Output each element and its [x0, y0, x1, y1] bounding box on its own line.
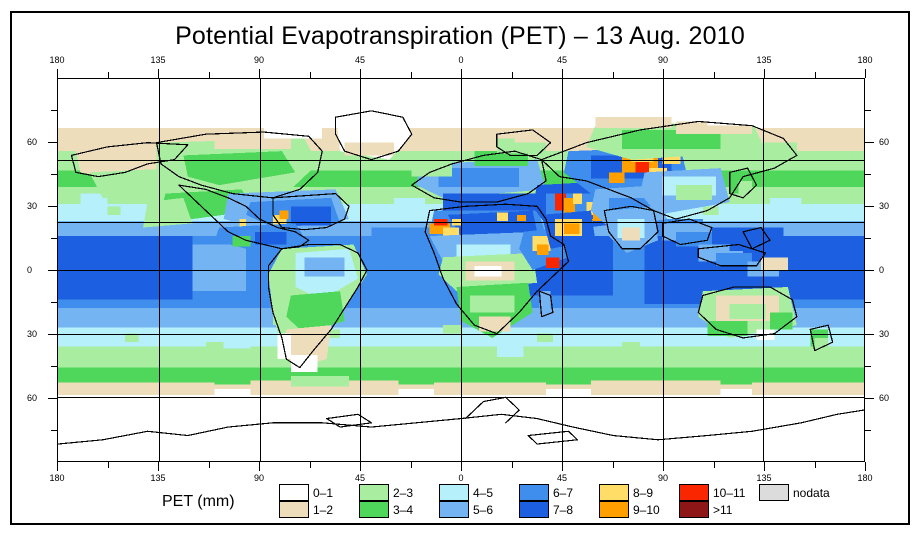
xtick-label-bottom-8: 180: [857, 473, 872, 483]
legend-swatch: [599, 484, 629, 501]
xtick-label-top-7: 135: [756, 55, 771, 65]
ytick-minor-right-15: [865, 238, 871, 239]
legend-swatch: [519, 484, 549, 501]
xtick-minor-top-9: [512, 72, 513, 78]
xtick-bottom-0: [57, 462, 58, 471]
xtick-top-3: [360, 69, 361, 78]
xtick-label-bottom-1: 135: [150, 473, 165, 483]
legend-swatch: [279, 501, 309, 518]
xtick-top-0: [57, 69, 58, 78]
gridline-lon-90e: [663, 79, 664, 461]
legend-label: 4–5: [473, 486, 493, 500]
legend-label: nodata: [793, 486, 830, 500]
ytick-label-right-3: 30: [879, 329, 889, 339]
ytick-label-left-3: 30: [27, 329, 37, 339]
xtick-label-top-5: 45: [557, 55, 567, 65]
xtick-minor-top-15: [815, 72, 816, 78]
ytick-label-left-2: 0: [27, 265, 32, 275]
legend-swatch: [279, 484, 309, 501]
xtick-minor-bottom-5: [310, 462, 311, 468]
xtick-minor-bottom-11: [613, 462, 614, 468]
xtick-label-top-3: 45: [355, 55, 365, 65]
gridline-lon-45w: [360, 79, 361, 461]
xtick-top-8: [865, 69, 866, 78]
ytick-left-0: [48, 142, 57, 143]
xtick-label-bottom-6: 90: [658, 473, 668, 483]
xtick-label-bottom-2: 90: [254, 473, 264, 483]
xtick-bottom-1: [158, 462, 159, 471]
xtick-minor-top-7: [411, 72, 412, 78]
ytick-minor-left--15: [51, 302, 57, 303]
legend-label: 1–2: [313, 503, 333, 517]
xtick-bottom-7: [764, 462, 765, 471]
xtick-minor-bottom-3: [209, 462, 210, 468]
figure-root: Potential Evapotranspiration (PET) – 13 …: [0, 0, 920, 539]
xtick-top-5: [562, 69, 563, 78]
legend-title: PET (mm): [162, 493, 235, 511]
xtick-label-top-4: 0: [458, 55, 463, 65]
xtick-minor-bottom-7: [411, 462, 412, 468]
gridline-lon-0: [461, 79, 462, 461]
ytick-right-0: [865, 142, 874, 143]
legend-label: 0–1: [313, 486, 333, 500]
xtick-top-1: [158, 69, 159, 78]
legend-label: >11: [713, 503, 732, 517]
ytick-left-3: [48, 334, 57, 335]
ytick-right-4: [865, 398, 874, 399]
gridline-lon-45e: [562, 79, 563, 461]
xtick-minor-bottom-13: [714, 462, 715, 468]
xtick-label-bottom-4: 0: [458, 473, 463, 483]
ytick-label-left-4: 60: [27, 393, 37, 403]
legend-label: 9–10: [633, 503, 660, 517]
xtick-bottom-4: [461, 462, 462, 471]
xtick-top-7: [764, 69, 765, 78]
ytick-left-4: [48, 398, 57, 399]
legend-swatch: [519, 501, 549, 518]
xtick-bottom-5: [562, 462, 563, 471]
ytick-label-right-0: 60: [879, 137, 889, 147]
ytick-minor-right--75: [865, 430, 871, 431]
ytick-label-right-1: 30: [879, 201, 889, 211]
xtick-minor-bottom-9: [512, 462, 513, 468]
xtick-bottom-3: [360, 462, 361, 471]
legend-label: 5–6: [473, 503, 493, 517]
ytick-minor-left--75: [51, 430, 57, 431]
map-legend: PET (mm) 0–11–22–33–44–55–66–77–88–99–10…: [57, 483, 867, 523]
legend-swatch: [679, 501, 709, 518]
xtick-minor-bottom-15: [815, 462, 816, 468]
ytick-right-2: [865, 270, 874, 271]
legend-swatch: [359, 501, 389, 518]
legend-label: 8–9: [633, 486, 653, 500]
legend-label: 3–4: [393, 503, 413, 517]
xtick-minor-top-3: [209, 72, 210, 78]
ytick-minor-right-45: [865, 174, 871, 175]
legend-label: 7–8: [553, 503, 573, 517]
ytick-label-right-2: 0: [879, 265, 884, 275]
page-title: Potential Evapotranspiration (PET) – 13 …: [0, 22, 920, 51]
ytick-minor-right--15: [865, 302, 871, 303]
gridline-lon-135e: [763, 79, 764, 461]
legend-label: 6–7: [553, 486, 573, 500]
ytick-minor-left-75: [51, 110, 57, 111]
xtick-bottom-6: [663, 462, 664, 471]
xtick-label-bottom-5: 45: [557, 473, 567, 483]
xtick-label-top-6: 90: [658, 55, 668, 65]
xtick-label-top-8: 180: [857, 55, 872, 65]
ytick-label-left-0: 60: [27, 137, 37, 147]
xtick-minor-top-13: [714, 72, 715, 78]
xtick-label-bottom-3: 45: [355, 473, 365, 483]
gridline-lon-90w: [260, 79, 261, 461]
ytick-label-right-4: 60: [879, 393, 889, 403]
ytick-minor-right-75: [865, 110, 871, 111]
xtick-bottom-8: [865, 462, 866, 471]
legend-swatch: [599, 501, 629, 518]
ytick-left-1: [48, 206, 57, 207]
ytick-label-left-1: 30: [27, 201, 37, 211]
ytick-minor-left-45: [51, 174, 57, 175]
legend-label: 10–11: [713, 486, 745, 500]
xtick-minor-top-11: [613, 72, 614, 78]
legend-label: 2–3: [393, 486, 413, 500]
gridline-lon-135w: [159, 79, 160, 461]
xtick-label-top-2: 90: [254, 55, 264, 65]
ytick-right-3: [865, 334, 874, 335]
xtick-label-bottom-7: 135: [756, 473, 771, 483]
xtick-top-4: [461, 69, 462, 78]
ytick-minor-left-15: [51, 238, 57, 239]
ytick-right-1: [865, 206, 874, 207]
legend-swatch: [439, 484, 469, 501]
xtick-bottom-2: [259, 462, 260, 471]
xtick-label-bottom-0: 180: [49, 473, 64, 483]
xtick-top-2: [259, 69, 260, 78]
legend-swatch: [759, 484, 789, 501]
legend-swatch: [679, 484, 709, 501]
legend-swatch: [439, 501, 469, 518]
xtick-minor-top-5: [310, 72, 311, 78]
ytick-left-2: [48, 270, 57, 271]
xtick-minor-top-1: [108, 72, 109, 78]
legend-swatch: [359, 484, 389, 501]
xtick-minor-bottom-1: [108, 462, 109, 468]
ytick-minor-right--45: [865, 366, 871, 367]
ytick-minor-left--45: [51, 366, 57, 367]
xtick-label-top-0: 180: [49, 55, 64, 65]
map-plot-area: [57, 78, 865, 462]
xtick-label-top-1: 135: [150, 55, 165, 65]
xtick-top-6: [663, 69, 664, 78]
